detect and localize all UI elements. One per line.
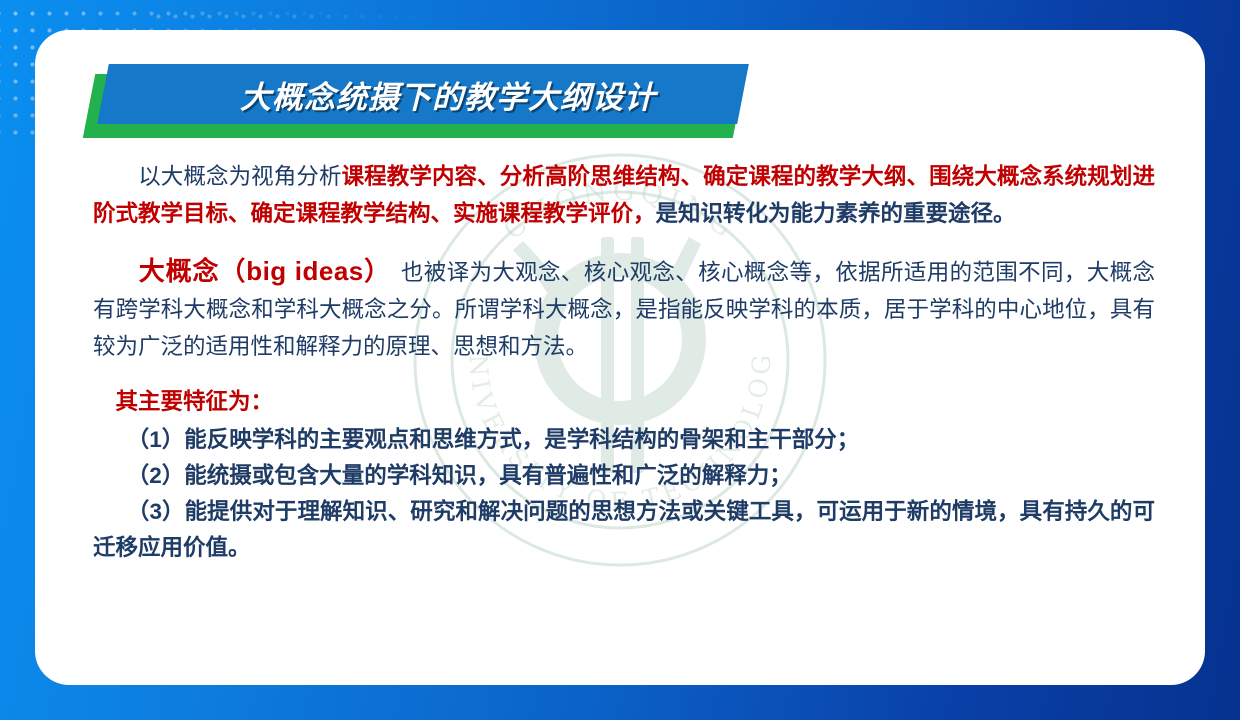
big-idea-term-cn: 大概念 xyxy=(139,256,220,286)
paragraph-one: 以大概念为视角分析课程教学内容、分析高阶思维结构、确定课程的教学大纲、围绕大概念… xyxy=(93,158,1155,232)
feature-item-1: （1）能反映学科的主要观点和思维方式，是学科结构的骨架和主干部分； xyxy=(93,422,1155,458)
big-idea-bracket-close: ） xyxy=(364,256,378,286)
body-content: 以大概念为视角分析课程教学内容、分析高阶思维结构、确定课程的教学大纲、围绕大概念… xyxy=(93,158,1155,566)
features-heading: 其主要特征为： xyxy=(93,384,1155,420)
page-title: 大概念统摄下的教学大纲设计 xyxy=(133,64,763,124)
paragraph-one-tail: 是知识转化为能力素养的重要途径。 xyxy=(656,201,1016,226)
slide-root: CHONGQING UNIVERSITY OF TECHNOLOGY 大概念统摄… xyxy=(0,0,1240,720)
paragraph-one-lead: 以大概念为视角分析 xyxy=(138,164,341,189)
big-idea-bracket-open: （ xyxy=(219,256,246,286)
title-banner: 大概念统摄下的教学大纲设计 xyxy=(75,60,755,150)
feature-item-2: （2）能统摄或包含大量的学科知识，具有普遍性和广泛的解释力； xyxy=(93,458,1155,494)
content-card: CHONGQING UNIVERSITY OF TECHNOLOGY 大概念统摄… xyxy=(35,30,1205,685)
paragraph-two: 大概念（big ideas） 也被译为大观念、核心观念、核心概念等，依据所适用的… xyxy=(93,253,1155,365)
big-idea-term-en: big ideas xyxy=(246,256,364,286)
feature-item-3: （3）能提供对于理解知识、研究和解决问题的思想方法或关键工具，可运用于新的情境，… xyxy=(93,494,1155,566)
